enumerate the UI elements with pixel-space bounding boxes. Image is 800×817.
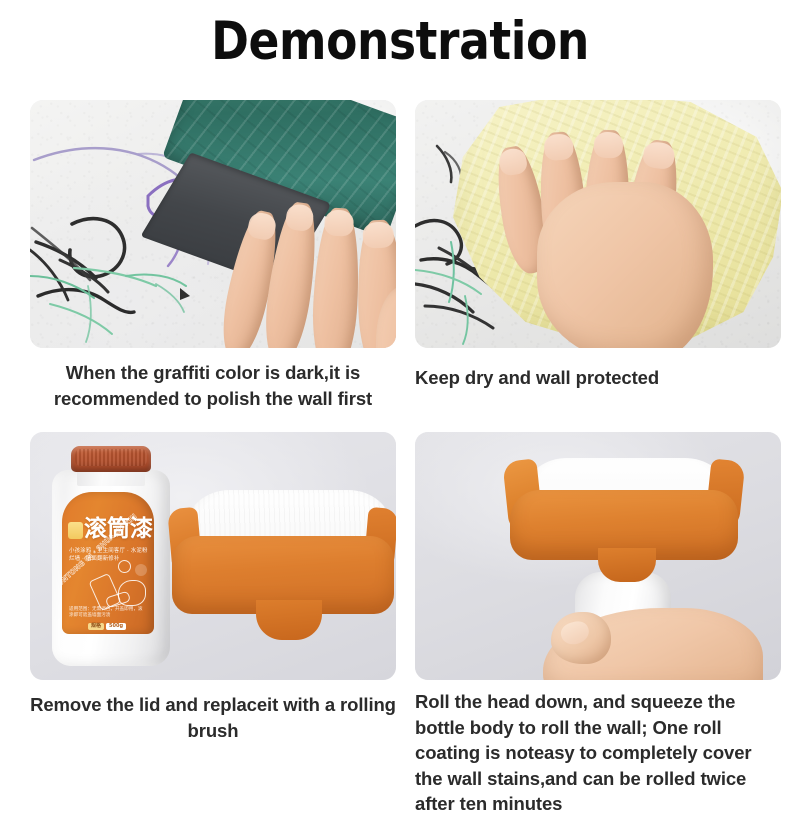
demo-step-4: Roll the head down, and squeeze the bott… bbox=[415, 432, 781, 817]
fingernail bbox=[497, 147, 529, 177]
fingernail bbox=[324, 209, 354, 236]
fingernail bbox=[363, 222, 394, 249]
photo-squeezing-bottle-with-roller-head bbox=[415, 432, 781, 680]
step-2-caption: Keep dry and wall protected bbox=[415, 365, 781, 391]
palm bbox=[537, 182, 713, 348]
roller-stem bbox=[256, 600, 322, 640]
step-1-caption: When the graffiti color is dark,it is re… bbox=[30, 360, 396, 411]
label-icon-circle bbox=[118, 560, 131, 573]
page-title: Demonstration bbox=[56, 14, 744, 70]
bottle-label: 滚筒漆 小孩涂鸦 · 卫生间客厅 · 水泥粉烂墙 · 墙面翻新修补 GUNTON… bbox=[62, 492, 154, 634]
roller-brush-head bbox=[172, 490, 394, 662]
fingernail bbox=[642, 140, 676, 170]
demo-step-3: 滚筒漆 小孩涂鸦 · 卫生间客厅 · 水泥粉烂墙 · 墙面翻新修补 GUNTON… bbox=[30, 432, 396, 743]
fingernail bbox=[246, 211, 277, 242]
roller-brush-head bbox=[510, 458, 738, 588]
hand-wiping-wall bbox=[501, 124, 741, 348]
label-badge-icon bbox=[68, 522, 83, 539]
label-weight-tag: 规格 bbox=[88, 623, 104, 630]
label-weight-value: 500g bbox=[106, 623, 126, 630]
fingernail bbox=[543, 133, 574, 161]
paint-bottle: 滚筒漆 小孩涂鸦 · 卫生间客厅 · 水泥粉烂墙 · 墙面翻新修补 GUNTON… bbox=[52, 446, 170, 666]
photo-wiping-wall-with-cloth bbox=[415, 100, 781, 348]
photo-bottle-and-roller-brush: 滚筒漆 小孩涂鸦 · 卫生间客厅 · 水泥粉烂墙 · 墙面翻新修补 GUNTON… bbox=[30, 432, 396, 680]
demo-step-2: Keep dry and wall protected bbox=[415, 100, 781, 391]
step-4-caption: Roll the head down, and squeeze the bott… bbox=[415, 689, 781, 817]
demo-step-1: When the graffiti color is dark,it is re… bbox=[30, 100, 396, 411]
roller-stem bbox=[598, 548, 656, 582]
finger-ring bbox=[310, 207, 363, 348]
demonstration-page: Demonstration bbox=[0, 0, 800, 800]
photo-sanding-block-on-graffiti-wall bbox=[30, 100, 396, 348]
bottle-cap bbox=[71, 446, 151, 472]
step-3-caption: Remove the lid and replaceit with a roll… bbox=[30, 692, 396, 743]
label-footer-text: 适用范围：无需调色，开盖即用，滚涂即可遮盖墙面污渍 bbox=[69, 606, 147, 618]
label-icon-seal bbox=[135, 564, 147, 576]
fingernail bbox=[594, 132, 624, 159]
label-weight-badge: 规格 500g bbox=[88, 623, 126, 630]
hand-holding-sponge bbox=[226, 146, 396, 348]
fingernail bbox=[284, 203, 315, 233]
illustration-hand bbox=[118, 580, 146, 606]
